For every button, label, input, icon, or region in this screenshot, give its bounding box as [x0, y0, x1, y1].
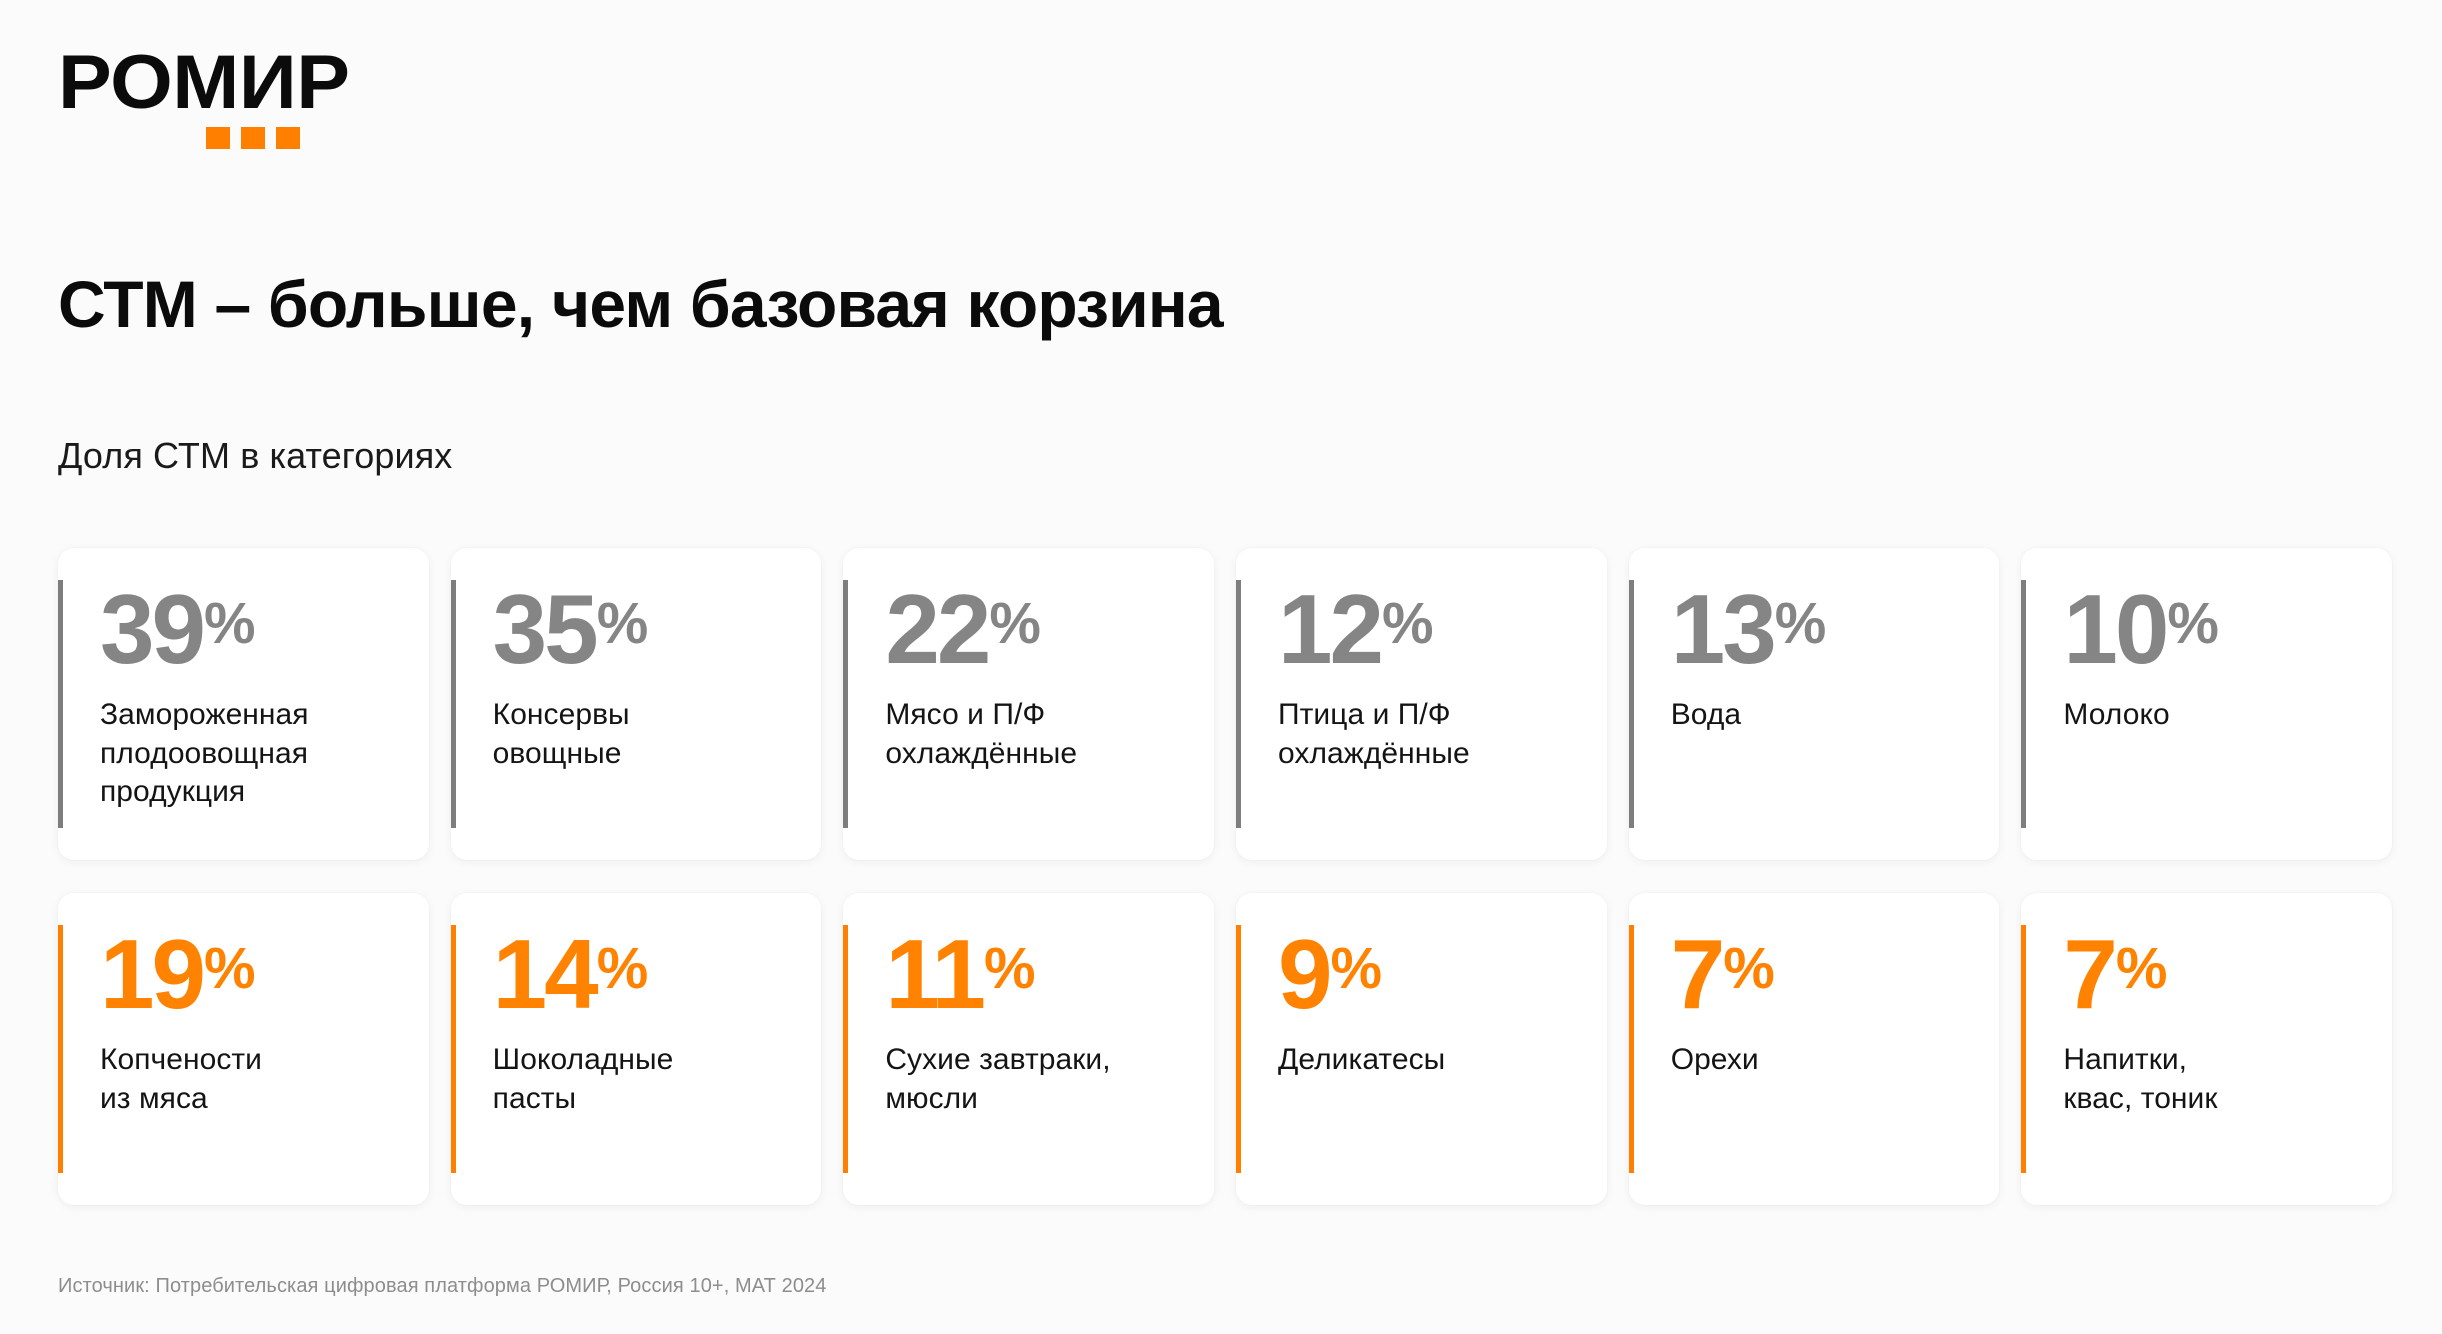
logo-dot-2	[241, 127, 265, 149]
card-label: Шоколадные пасты	[493, 1041, 796, 1118]
category-card: 7 % Орехи	[1629, 893, 2000, 1205]
card-value-unit: %	[2167, 595, 2218, 653]
card-value: 10 %	[2063, 584, 2366, 674]
category-card: 19 % Копчености из мяса	[58, 893, 429, 1205]
card-accent-bar	[2021, 580, 2026, 828]
card-value: 35 %	[493, 584, 796, 674]
card-label: Птица и П/Ф охлаждённые	[1278, 696, 1581, 773]
category-card: 13 % Вода	[1629, 548, 2000, 860]
category-card: 14 % Шоколадные пасты	[451, 893, 822, 1205]
logo-dot-3	[276, 127, 300, 149]
card-value-unit: %	[984, 940, 1035, 998]
card-value-unit: %	[989, 595, 1040, 653]
card-accent-bar	[451, 580, 456, 828]
card-label: Копчености из мяса	[100, 1041, 403, 1118]
card-accent-bar	[451, 925, 456, 1173]
card-label: Напитки, квас, тоник	[2063, 1041, 2366, 1118]
card-label: Вода	[1671, 696, 1974, 734]
card-value-number: 10	[2063, 584, 2166, 674]
category-card: 9 % Деликатесы	[1236, 893, 1607, 1205]
card-value-number: 11	[885, 929, 983, 1019]
card-value-number: 7	[2063, 929, 2115, 1019]
card-accent-bar	[2021, 925, 2026, 1173]
card-value: 13 %	[1671, 584, 1974, 674]
card-value-unit: %	[2116, 940, 2167, 998]
category-card: 35 % Консервы овощные	[451, 548, 822, 860]
card-accent-bar	[1236, 580, 1241, 828]
card-value-unit: %	[1331, 940, 1382, 998]
card-value-number: 7	[1671, 929, 1723, 1019]
card-accent-bar	[843, 925, 848, 1173]
card-value: 7 %	[2063, 929, 2366, 1019]
logo-dot-1	[206, 127, 230, 149]
card-value: 22 %	[885, 584, 1188, 674]
card-value-unit: %	[597, 940, 648, 998]
card-value-number: 13	[1671, 584, 1774, 674]
card-value: 7 %	[1671, 929, 1974, 1019]
section-subtitle: Доля СТМ в категориях	[58, 435, 452, 477]
card-row-gray: 39 % Замороженная плодоовощная продукция…	[58, 548, 2392, 860]
category-card: 12 % Птица и П/Ф охлаждённые	[1236, 548, 1607, 860]
category-card: 39 % Замороженная плодоовощная продукция	[58, 548, 429, 860]
category-card-grid: 39 % Замороженная плодоовощная продукция…	[58, 548, 2392, 1205]
category-card: 7 % Напитки, квас, тоник	[2021, 893, 2392, 1205]
card-accent-bar	[1236, 925, 1241, 1173]
page-title: СТМ – больше, чем базовая корзина	[58, 266, 1223, 342]
category-card: 10 % Молоко	[2021, 548, 2392, 860]
card-value-number: 19	[100, 929, 203, 1019]
source-note: Источник: Потребительская цифровая платф…	[58, 1275, 827, 1298]
card-value-unit: %	[597, 595, 648, 653]
card-value-number: 9	[1278, 929, 1330, 1019]
card-row-orange: 19 % Копчености из мяса 14 % Шоколадные …	[58, 893, 2392, 1205]
card-label: Деликатесы	[1278, 1041, 1581, 1079]
slide-root: РОМИР СТМ – больше, чем базовая корзина …	[0, 0, 2442, 1334]
card-value-unit: %	[1723, 940, 1774, 998]
card-value: 19 %	[100, 929, 403, 1019]
category-card: 11 % Сухие завтраки, мюсли	[843, 893, 1214, 1205]
card-label: Консервы овощные	[493, 696, 796, 773]
card-accent-bar	[58, 580, 63, 828]
logo-wordmark: РОМИР	[58, 48, 482, 118]
card-value-number: 14	[493, 929, 596, 1019]
card-label: Мясо и П/Ф охлаждённые	[885, 696, 1188, 773]
card-label: Сухие завтраки, мюсли	[885, 1041, 1188, 1118]
romir-logo: РОМИР	[58, 48, 458, 149]
card-value-unit: %	[1382, 595, 1433, 653]
card-label: Замороженная плодоовощная продукция	[100, 696, 403, 811]
card-value-number: 12	[1278, 584, 1381, 674]
card-value-number: 35	[493, 584, 596, 674]
card-accent-bar	[843, 580, 848, 828]
card-value: 39 %	[100, 584, 403, 674]
card-value-unit: %	[204, 940, 255, 998]
card-value-unit: %	[1775, 595, 1826, 653]
card-value: 12 %	[1278, 584, 1581, 674]
logo-dots-icon	[206, 127, 458, 149]
card-value-number: 39	[100, 584, 203, 674]
card-label: Молоко	[2063, 696, 2366, 734]
card-value-unit: %	[204, 595, 255, 653]
card-accent-bar	[1629, 580, 1634, 828]
card-value: 11 %	[885, 929, 1188, 1019]
category-card: 22 % Мясо и П/Ф охлаждённые	[843, 548, 1214, 860]
card-value: 14 %	[493, 929, 796, 1019]
card-accent-bar	[1629, 925, 1634, 1173]
card-value-number: 22	[885, 584, 988, 674]
card-value: 9 %	[1278, 929, 1581, 1019]
card-label: Орехи	[1671, 1041, 1974, 1079]
card-accent-bar	[58, 925, 63, 1173]
